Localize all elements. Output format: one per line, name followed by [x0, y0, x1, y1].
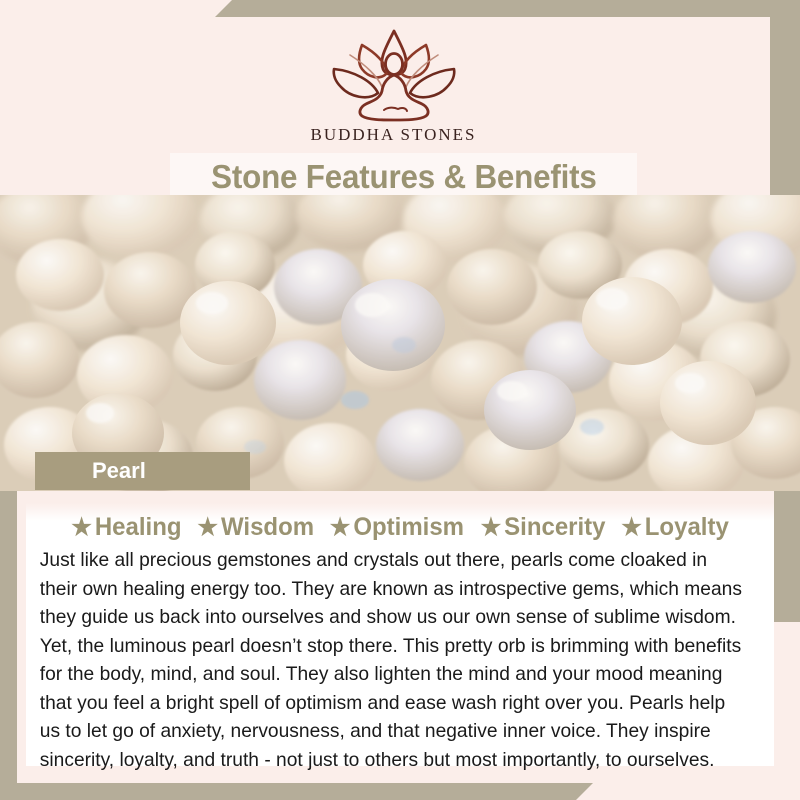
page-title: Stone Features & Benefits — [211, 158, 596, 196]
stone-name-text: Pearl — [92, 458, 146, 484]
star-icon: ★ — [481, 514, 502, 541]
benefit-label: Sincerity — [504, 513, 605, 541]
star-icon: ★ — [621, 514, 642, 541]
description-paragraph: Just like all precious gemstones and cry… — [26, 546, 763, 774]
star-icon: ★ — [71, 514, 92, 541]
star-icon: ★ — [330, 514, 351, 541]
benefit-item-optimism: ★Optimism — [330, 515, 464, 540]
stone-photo — [0, 195, 800, 491]
benefit-label: Healing — [95, 513, 182, 541]
infographic-page: BUDDHA STONES Stone Features & Benefits — [0, 0, 800, 800]
pearl-pile-image — [0, 195, 800, 491]
benefit-label: Optimism — [354, 513, 465, 541]
brand-wordmark: BUDDHA STONES — [17, 125, 770, 145]
stone-name-badge: Pearl — [35, 452, 250, 490]
decorative-band-top — [215, 0, 800, 17]
benefits-content: ★Healing★Wisdom★Optimism★Sincerity★Loyal… — [26, 491, 774, 766]
benefits-list: ★Healing★Wisdom★Optimism★Sincerity★Loyal… — [26, 491, 774, 540]
benefit-item-wisdom: ★Wisdom — [197, 515, 314, 540]
star-icon: ★ — [197, 514, 218, 541]
benefit-item-loyalty: ★Loyalty — [621, 515, 729, 540]
benefit-label: Wisdom — [221, 513, 314, 541]
benefit-item-sincerity: ★Sincerity — [481, 515, 606, 540]
benefit-label: Loyalty — [645, 513, 729, 541]
lotus-meditation-icon — [310, 25, 478, 123]
title-ribbon: Stone Features & Benefits — [170, 153, 637, 201]
brand-logo: BUDDHA STONES — [17, 25, 770, 145]
benefit-item-healing: ★Healing — [71, 515, 181, 540]
